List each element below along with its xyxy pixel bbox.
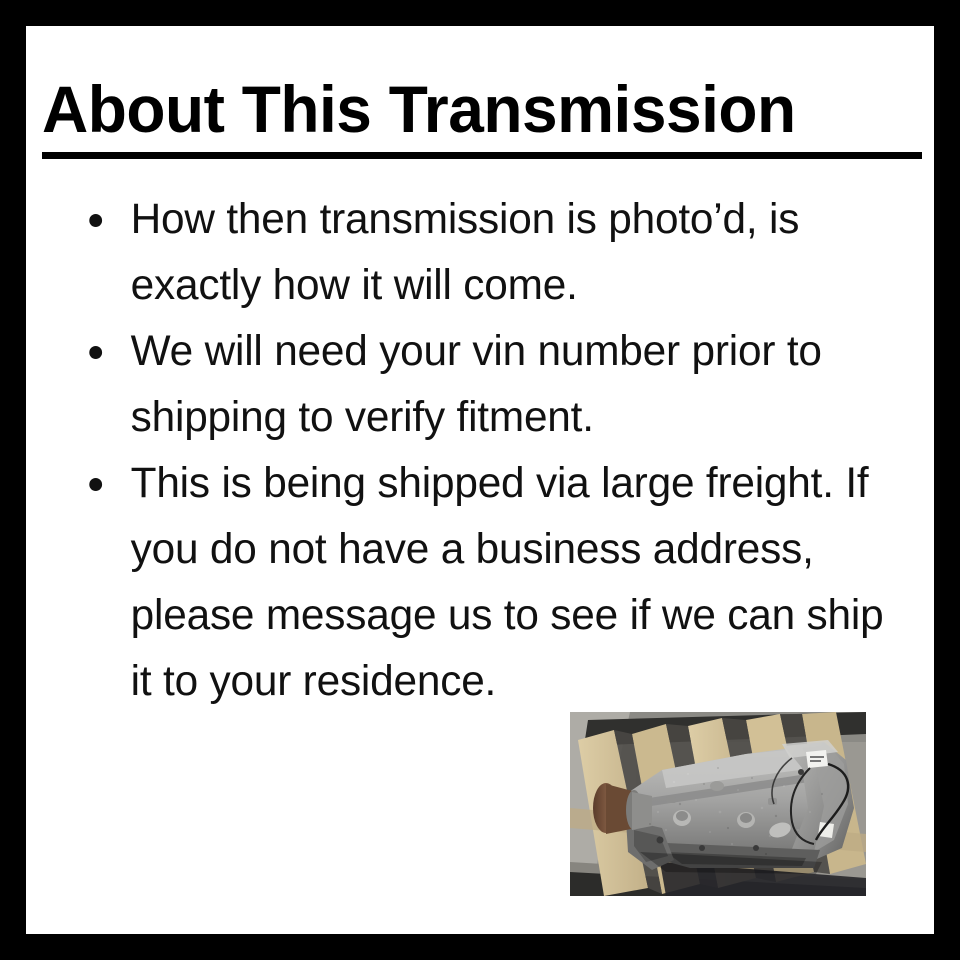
list-item-text: How then transmission is photo’d, is exa…: [131, 195, 800, 309]
transmission-photo: [570, 712, 866, 896]
poster-frame: About This Transmission How then transmi…: [0, 0, 960, 960]
list-item-text: This is being shipped via large freight.…: [131, 459, 884, 705]
transmission-photo-image: [570, 712, 866, 896]
bullet-dot-icon: [89, 214, 102, 227]
page-title: About This Transmission: [42, 74, 898, 150]
list-item: We will need your vin number prior to sh…: [42, 318, 909, 450]
list-item: This is being shipped via large freight.…: [42, 450, 909, 714]
heading-block: About This Transmission: [42, 74, 924, 159]
bullet-dot-icon: [89, 346, 102, 359]
list-item: How then transmission is photo’d, is exa…: [42, 186, 909, 318]
list-item-text: We will need your vin number prior to sh…: [131, 327, 822, 441]
poster-card: About This Transmission How then transmi…: [26, 26, 934, 934]
bullet-dot-icon: [89, 478, 102, 491]
about-bullet-list: How then transmission is photo’d, is exa…: [42, 186, 922, 714]
title-underline-rule: [42, 152, 922, 159]
